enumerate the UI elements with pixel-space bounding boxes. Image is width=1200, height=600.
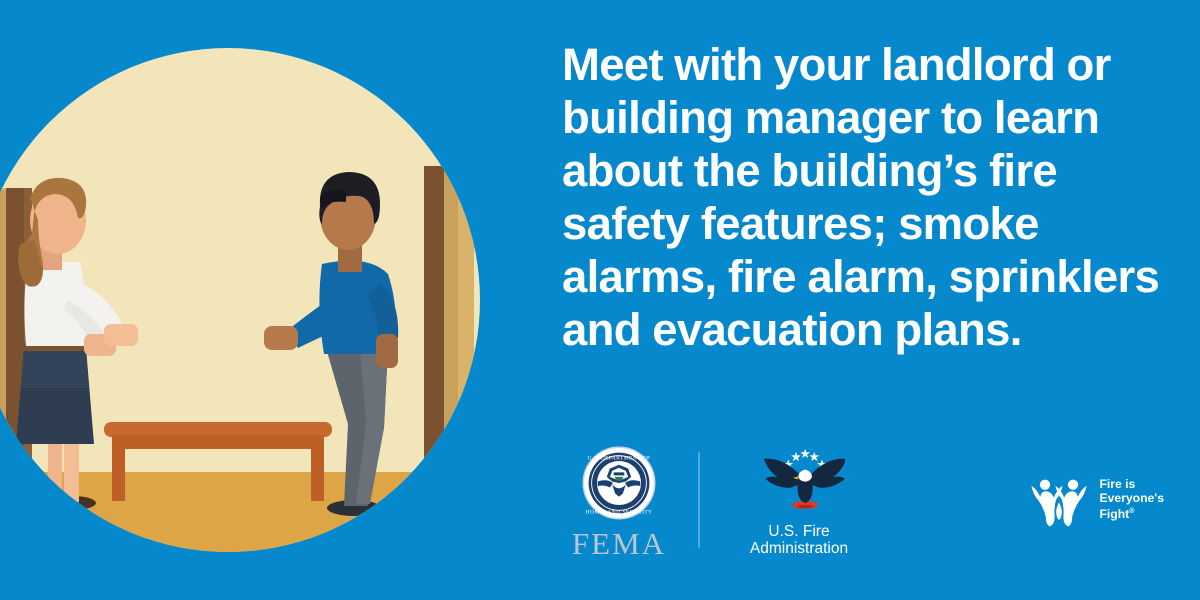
- agency-logo-group: U.S. DEPARTMENT OF HOMELAND SECURITY FEM…: [560, 440, 874, 560]
- woman-hand-back: [104, 324, 138, 346]
- feef-registered-mark: ®: [1129, 508, 1134, 515]
- man-hand-front: [264, 326, 298, 350]
- woman-leg-front: [64, 436, 79, 502]
- feef-figure-right: [1056, 480, 1087, 527]
- table-leg-left: [112, 435, 125, 501]
- logo-divider: [698, 452, 700, 548]
- feef-flame: [1057, 502, 1063, 520]
- logo-bar: U.S. DEPARTMENT OF HOMELAND SECURITY FEM…: [560, 440, 1180, 560]
- usfa-label: U.S. Fire Administration: [750, 523, 848, 557]
- usfa-wing-right: [810, 459, 845, 488]
- feef-label: Fire is Everyone's Fight®: [1099, 478, 1164, 521]
- illustration-svg: [0, 48, 480, 552]
- fire-is-everyones-fight-logo: Fire is Everyone's Fight®: [1029, 452, 1164, 548]
- feef-figure-left: [1032, 480, 1063, 527]
- table-apron: [112, 435, 324, 449]
- door-right: [424, 166, 474, 496]
- usfa-eagle-icon: [753, 445, 845, 517]
- woman-leg-back: [48, 436, 62, 502]
- illustration-scene: [0, 48, 480, 552]
- dhs-seal-bottom-text: HOMELAND SECURITY: [586, 509, 653, 515]
- usfa-eagle-head: [798, 470, 812, 482]
- woman-shoe: [48, 496, 96, 510]
- fema-wordmark: FEMA: [572, 528, 666, 559]
- dhs-seal-icon: U.S. DEPARTMENT OF HOMELAND SECURITY: [581, 445, 657, 521]
- man-hand-back: [376, 334, 398, 368]
- feef-figures-icon: [1029, 472, 1093, 528]
- headline: Meet with your landlord or building mana…: [562, 38, 1174, 356]
- usfa-logo: U.S. Fire Administration: [724, 443, 874, 557]
- table-top: [104, 422, 332, 437]
- table-leg-right: [311, 435, 324, 501]
- usfa-stars: [783, 449, 827, 469]
- illustration-circle: [0, 48, 480, 552]
- fema-logo: U.S. DEPARTMENT OF HOMELAND SECURITY FEM…: [560, 441, 678, 559]
- dhs-seal-top-text: U.S. DEPARTMENT OF: [588, 455, 651, 461]
- usfa-wing-left: [764, 459, 801, 488]
- poster-canvas: Meet with your landlord or building mana…: [0, 0, 1200, 600]
